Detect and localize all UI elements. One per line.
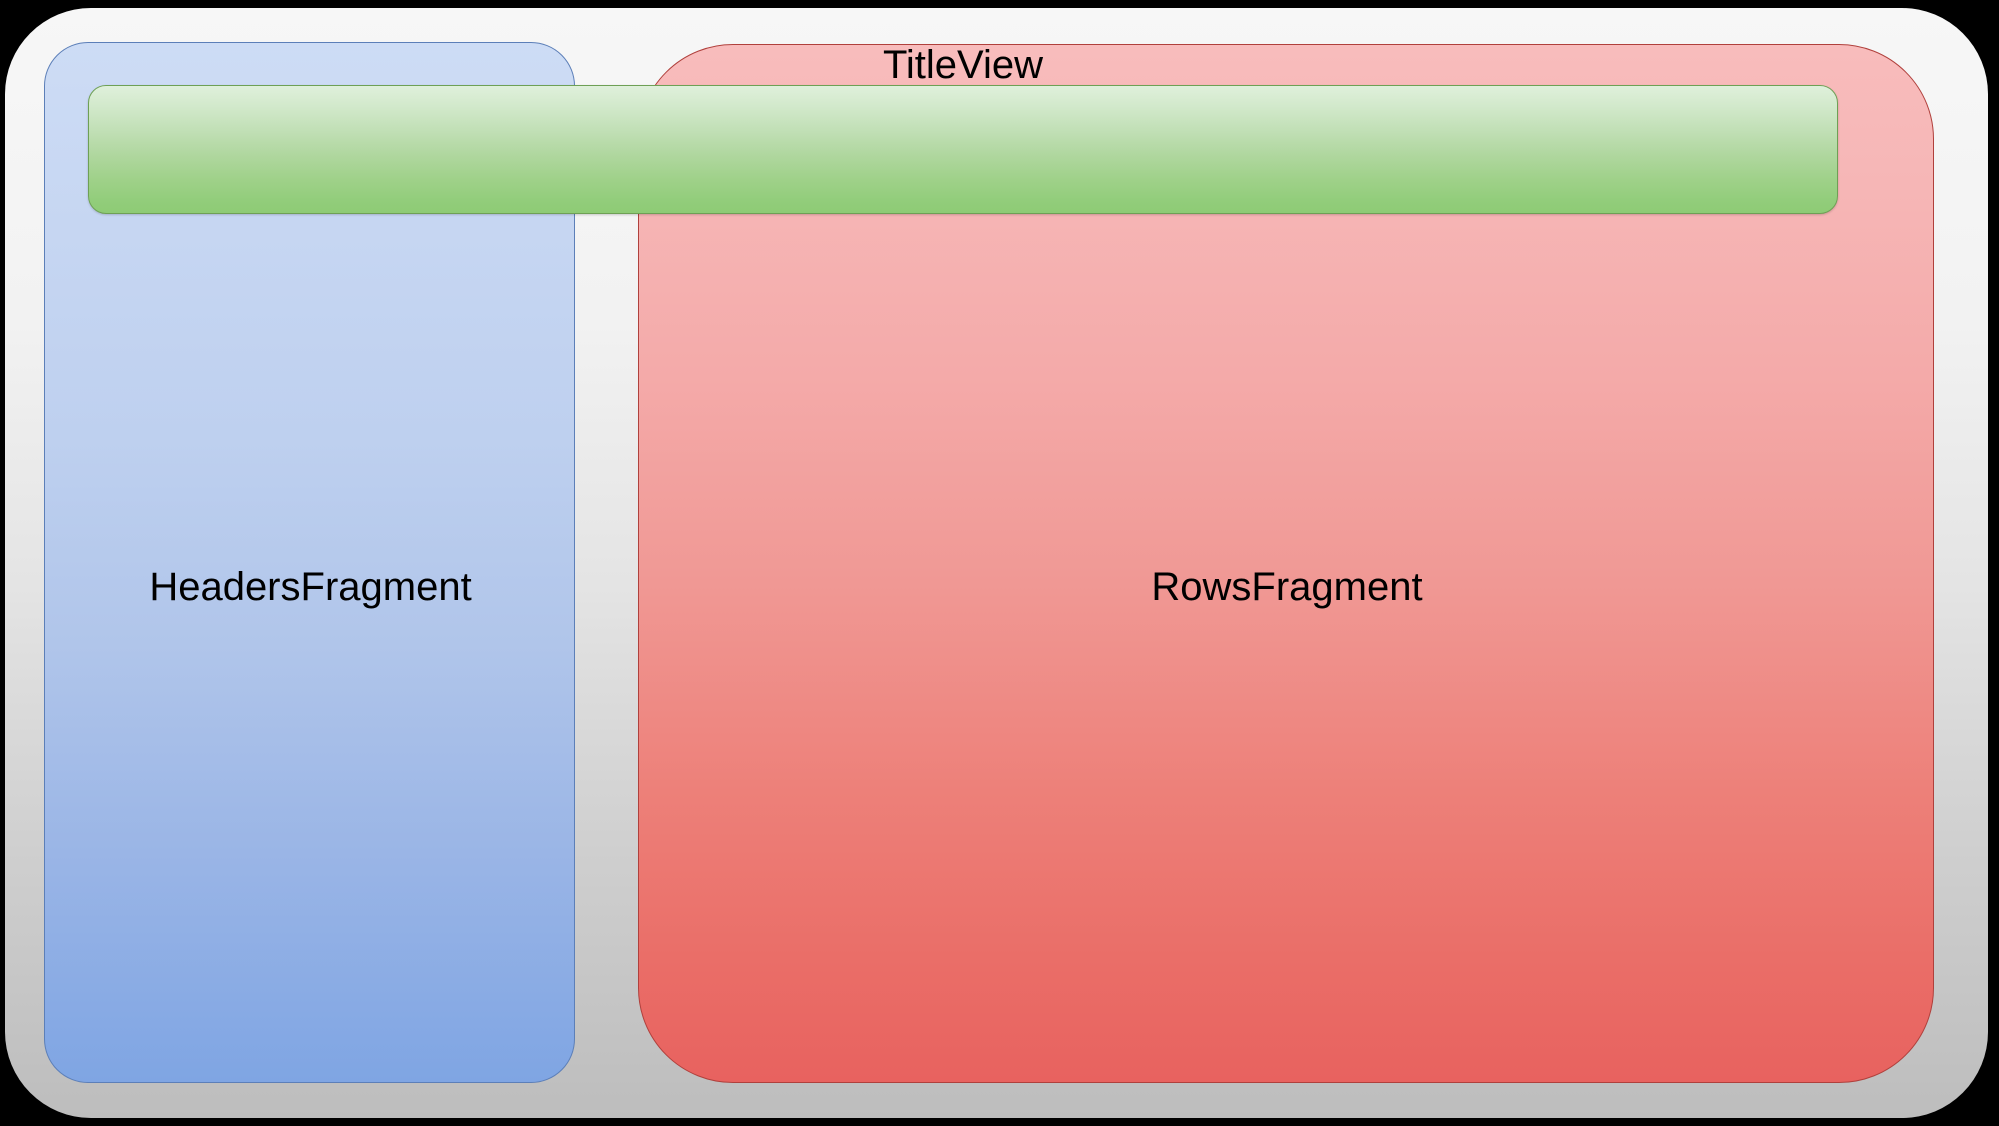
headers-fragment-label: HeadersFragment — [45, 66, 576, 1107]
diagram-canvas: HeadersFragment RowsFragment TitleView — [0, 0, 1999, 1126]
rows-fragment-label: RowsFragment — [639, 67, 1935, 1106]
title-view-label: TitleView — [88, 0, 1838, 129]
